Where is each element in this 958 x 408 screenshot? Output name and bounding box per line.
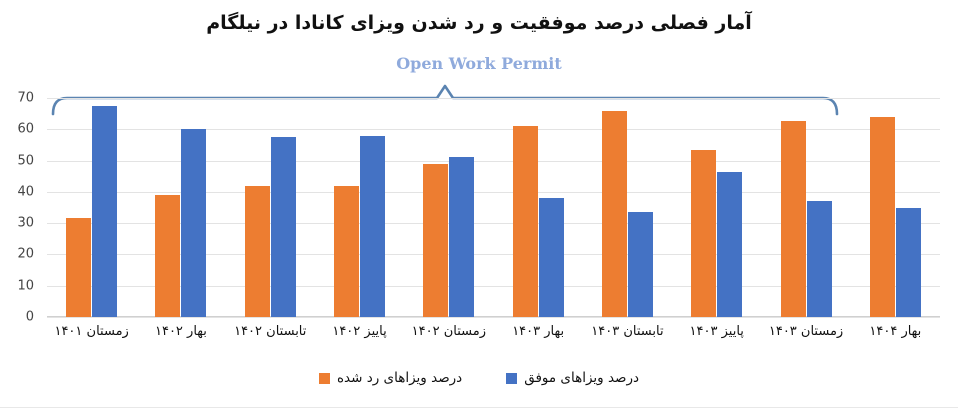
- chart-legend: درصد ویزاهای موفقدرصد ویزاهای رد شده: [0, 370, 958, 386]
- x-axis-tick-label: تابستان ۱۴۰۲: [226, 324, 315, 339]
- y-axis-tick-70: 70: [17, 91, 34, 106]
- y-axis-tick-40: 40: [17, 184, 34, 199]
- gridline-0: [47, 317, 940, 318]
- bar-group: [691, 98, 742, 317]
- y-axis-tick-30: 30: [17, 216, 34, 231]
- bar-success[interactable]: [181, 129, 206, 317]
- x-axis-tick-label: بهار ۱۴۰۴: [851, 324, 940, 339]
- x-axis-tick-label: زمستان ۱۴۰۳: [761, 324, 850, 339]
- bar-rejected[interactable]: [423, 164, 448, 317]
- bar-group: [423, 98, 474, 317]
- y-axis-tick-20: 20: [17, 247, 34, 262]
- legend-item[interactable]: درصد ویزاهای رد شده: [319, 370, 462, 386]
- bar-rejected[interactable]: [691, 150, 716, 317]
- legend-item[interactable]: درصد ویزاهای موفق: [506, 370, 639, 386]
- legend-swatch-rejected: [319, 373, 330, 384]
- bar-group: [245, 98, 296, 317]
- legend-swatch-success: [506, 373, 517, 384]
- x-axis-tick-label: زمستان ۱۴۰۱: [47, 324, 136, 339]
- legend-item-label: درصد ویزاهای موفق: [524, 370, 639, 386]
- bar-rejected[interactable]: [245, 186, 270, 317]
- bar-rejected[interactable]: [334, 186, 359, 317]
- chart-title: آمار فصلی درصد موفقیت و رد شدن ویزای کان…: [0, 12, 958, 34]
- annotation-label-open-work-permit: Open Work Permit: [0, 54, 958, 73]
- y-axis-tick-60: 60: [17, 122, 34, 137]
- chart-container: آمار فصلی درصد موفقیت و رد شدن ویزای کان…: [0, 0, 958, 408]
- bar-rejected[interactable]: [781, 121, 806, 317]
- x-axis-tick-label: زمستان ۱۴۰۲: [404, 324, 493, 339]
- bar-group: [870, 98, 921, 317]
- legend-item-label: درصد ویزاهای رد شده: [337, 370, 462, 386]
- bar-success[interactable]: [271, 137, 296, 317]
- bar-success[interactable]: [717, 172, 742, 317]
- bar-group: [602, 98, 653, 317]
- bar-success[interactable]: [807, 201, 832, 317]
- bar-rejected[interactable]: [155, 195, 180, 317]
- bar-rejected[interactable]: [602, 111, 627, 317]
- bar-success[interactable]: [628, 212, 653, 317]
- bar-rejected[interactable]: [66, 218, 91, 317]
- bar-group: [781, 98, 832, 317]
- y-axis-tick-50: 50: [17, 153, 34, 168]
- bar-group: [334, 98, 385, 317]
- y-axis-tick-10: 10: [17, 278, 34, 293]
- bars-layer: [47, 98, 940, 317]
- bar-success[interactable]: [449, 157, 474, 317]
- bar-success[interactable]: [539, 198, 564, 317]
- bar-rejected[interactable]: [513, 126, 538, 317]
- y-axis-tick-0: 0: [26, 310, 34, 325]
- bar-success[interactable]: [92, 106, 117, 317]
- bar-success[interactable]: [360, 136, 385, 317]
- y-axis: 706050403020100: [0, 98, 40, 317]
- bar-group: [155, 98, 206, 317]
- bar-rejected[interactable]: [870, 117, 895, 317]
- x-axis-tick-label: بهار ۱۴۰۲: [136, 324, 225, 339]
- x-axis-tick-label: پاییز ۱۴۰۲: [315, 324, 404, 339]
- bar-group: [513, 98, 564, 317]
- x-axis-tick-label: پاییز ۱۴۰۳: [672, 324, 761, 339]
- x-axis: زمستان ۱۴۰۱بهار ۱۴۰۲تابستان ۱۴۰۲پاییز ۱۴…: [47, 320, 940, 368]
- bar-success[interactable]: [896, 208, 921, 318]
- x-axis-tick-label: تابستان ۱۴۰۳: [583, 324, 672, 339]
- x-axis-tick-label: بهار ۱۴۰۳: [494, 324, 583, 339]
- bar-group: [66, 98, 117, 317]
